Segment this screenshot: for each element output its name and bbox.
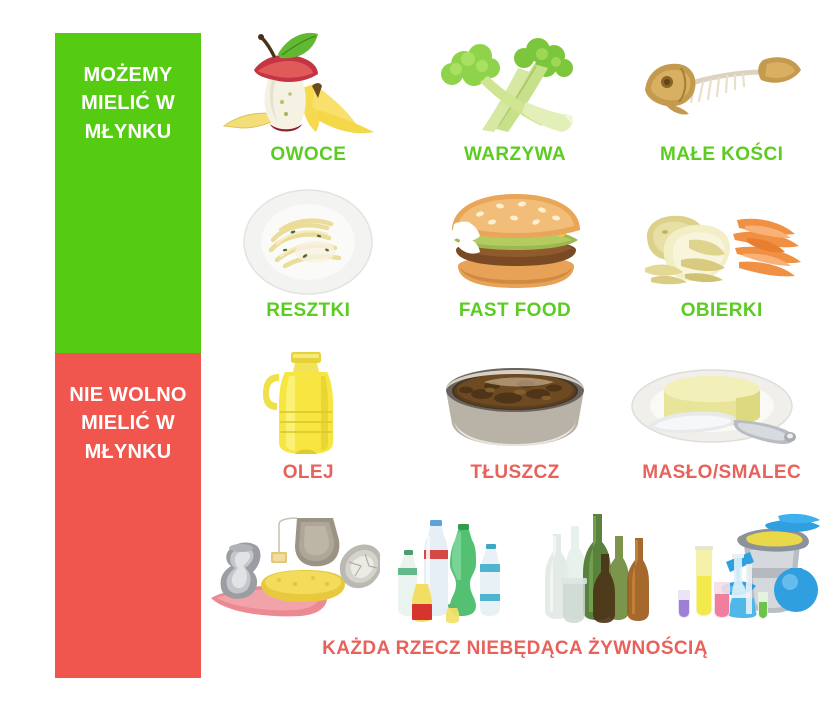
oil-bottle-icon [243,350,373,458]
glass-bottles-icon [539,506,657,624]
butter-on-plate-icon [624,350,819,458]
household-chemicals-icon [670,506,825,624]
frying-pan-grease-icon [430,350,600,458]
item-glass-bottles [525,506,670,624]
apple-core-banana-peel-icon [218,28,398,140]
item-label: FAST FOOD [459,300,571,322]
item-fruits: OWOCE [205,28,412,166]
item-label: OLEJ [283,462,334,484]
item-label: TŁUSZCZ [470,462,559,484]
nonfood-caption: KAŻDA RZECZ NIEBĘDĄCA ŻYWNOŚCIĄ [205,638,825,660]
infographic-root: MOŻEMY MIELIĆ W MŁYNKU NIE WOLNO MIELIĆ … [0,0,833,708]
item-household-chemicals [670,506,825,624]
item-butter-lard: MASŁO/SMALEC [618,350,825,484]
item-label: OBIERKI [681,300,763,322]
item-peelings: OBIERKI [618,184,825,322]
panel-forbidden-label: NIE WOLNO MIELIĆ W MŁYNKU [63,381,193,466]
plastic-bottles-icon [394,506,512,624]
content-grid: OWOCE [205,28,825,660]
row-forbidden-1: OLEJ [205,350,825,484]
crushed-can-teabag-sponge-icon [205,506,380,624]
item-oil: OLEJ [205,350,412,484]
panel-allowed-label: MOŻEMY MIELIĆ W MŁYNKU [63,61,193,146]
item-label: RESZTKI [266,300,350,322]
item-small-bones: MAŁE KOŚCI [618,28,825,166]
item-label: OWOCE [270,144,346,166]
celery-stalks-icon [430,28,600,140]
row-allowed-2: RESZTKI [205,184,825,322]
plate-of-leftovers-icon [223,184,393,296]
row-allowed-1: OWOCE [205,28,825,166]
item-label: WARZYWA [464,144,566,166]
potato-carrot-peelings-icon [629,184,814,296]
item-fast-food: FAST FOOD [412,184,619,322]
item-leftovers: RESZTKI [205,184,412,322]
fish-skeleton-icon [629,28,814,140]
panel-forbidden: NIE WOLNO MIELIĆ W MŁYNKU [55,353,201,678]
hamburger-icon [430,184,600,296]
item-plastic-bottles [380,506,525,624]
item-fat: TŁUSZCZ [412,350,619,484]
item-label: MASŁO/SMALEC [642,462,801,484]
item-vegetables: WARZYWA [412,28,619,166]
panel-allowed: MOŻEMY MIELIĆ W MŁYNKU [55,33,201,353]
item-label: MAŁE KOŚCI [660,144,783,166]
item-household-waste [205,506,380,624]
row-forbidden-nonfood [205,506,825,624]
